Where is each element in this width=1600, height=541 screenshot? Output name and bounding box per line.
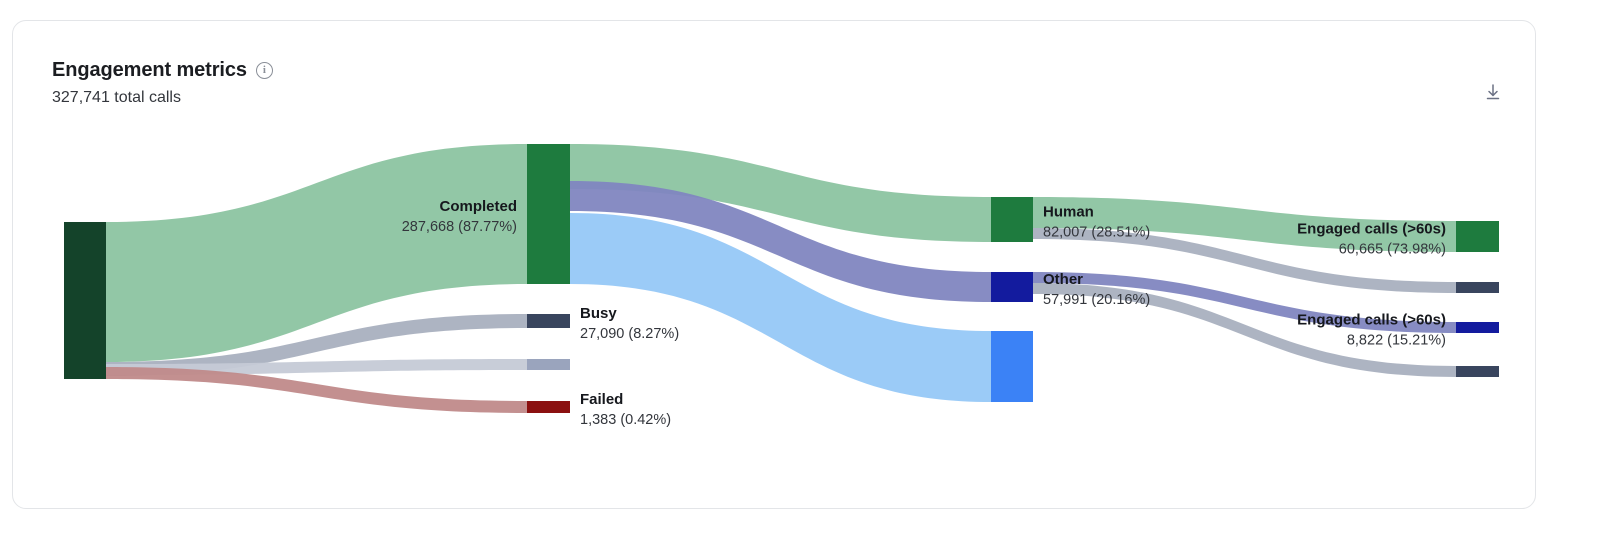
sankey-node-label: Busy xyxy=(580,305,617,322)
sankey-node[interactable] xyxy=(527,314,570,328)
sankey-link[interactable] xyxy=(106,367,527,413)
sankey-node-value: 287,668 (87.77%) xyxy=(402,219,517,235)
sankey-node-label: Other xyxy=(1043,271,1083,288)
sankey-node-label: Human xyxy=(1043,204,1094,221)
sankey-node-label: Engaged calls (>60s) xyxy=(1297,312,1446,329)
sankey-node[interactable] xyxy=(991,197,1033,242)
sankey-node[interactable] xyxy=(1456,221,1499,252)
sankey-node-value: 57,991 (20.16%) xyxy=(1043,292,1150,308)
sankey-node-value: 82,007 (28.51%) xyxy=(1043,225,1150,241)
sankey-node[interactable] xyxy=(1456,322,1499,333)
sankey-node[interactable] xyxy=(527,144,570,284)
sankey-node[interactable] xyxy=(527,401,570,413)
sankey-links xyxy=(106,144,1456,413)
sankey-node[interactable] xyxy=(991,272,1033,302)
sankey-node-value: 1,383 (0.42%) xyxy=(580,412,671,428)
sankey-node-label: Completed xyxy=(439,198,517,215)
sankey-node[interactable] xyxy=(527,359,570,370)
sankey-node[interactable] xyxy=(64,222,106,379)
engagement-metrics-card: Engagement metrics i 327,741 total calls… xyxy=(12,20,1536,509)
sankey-diagram: Completed287,668 (87.77%)Busy27,090 (8.2… xyxy=(13,21,1537,510)
sankey-node-label: Failed xyxy=(580,391,623,408)
sankey-node-value: 27,090 (8.27%) xyxy=(580,326,679,342)
sankey-node-value: 60,665 (73.98%) xyxy=(1339,242,1446,258)
sankey-node[interactable] xyxy=(1456,366,1499,377)
sankey-node[interactable] xyxy=(1456,282,1499,293)
sankey-node-label: Engaged calls (>60s) xyxy=(1297,221,1446,238)
sankey-node-value: 8,822 (15.21%) xyxy=(1347,333,1446,349)
sankey-node[interactable] xyxy=(991,331,1033,402)
